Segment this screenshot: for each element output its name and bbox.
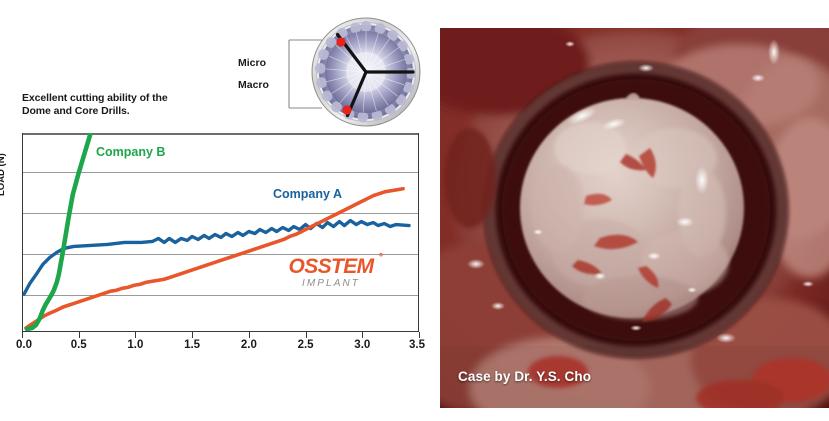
xtick-mark [22,332,23,338]
clinical-photo-image [440,28,829,408]
xtick-mark [419,332,420,338]
xtick-label-5: 2.5 [298,339,314,351]
micro-marker-dot [336,37,345,46]
xtick-mark [362,332,363,338]
osstem-logo: OSSTEM ° IMPLANT [271,255,391,289]
drill-label-micro: Micro [238,52,290,74]
drill-circle-svg [310,16,422,128]
xtick-label-0: 0.0 [16,339,32,351]
clinical-photo: Case by Dr. Y.S. Cho [440,28,829,408]
chart-caption: Excellent cutting ability of the Dome an… [22,92,222,118]
xtick-mark [306,332,307,338]
xtick-label-4: 2.0 [241,339,257,351]
drill-label-macro: Macro [238,74,290,96]
series-lines [23,133,418,331]
xtick-label-2: 1.0 [127,339,143,351]
chart-caption-line-1: Excellent cutting ability of the [22,92,222,105]
xtick-mark [135,332,136,338]
osstem-degree-mark: ° [379,252,383,264]
photo-caption: Case by Dr. Y.S. Cho [458,369,591,384]
drill-diagram-labels: Micro Macro [238,52,290,96]
xtick-label-6: 3.0 [354,339,370,351]
xtick-mark [249,332,250,338]
osstem-wordmark-text: OSSTEM [288,255,373,278]
chart-panel: Excellent cutting ability of the Dome an… [0,0,430,421]
xtick-mark [79,332,80,338]
xtick-label-1: 0.5 [71,339,87,351]
y-axis-title: LOAD (N) [0,153,7,196]
chart-caption-line-2: Dome and Core Drills. [22,105,222,118]
xtick-mark [192,332,193,338]
plot-area: OSSTEM ° IMPLANT [22,133,419,332]
osstem-wordmark: OSSTEM ° [288,255,373,279]
drill-circle [310,16,422,128]
macro-marker-dot [342,105,351,114]
series-label-company-a: Company A [273,187,342,201]
xtick-label-7: 3.5 [409,339,425,351]
series-label-company-b: Company B [96,145,165,159]
drill-cross-section-diagram: Micro Macro [238,14,418,132]
osstem-subtitle: IMPLANT [271,278,391,289]
x-axis-ticks: 0.0 0.5 1.0 1.5 2.0 2.5 3.0 3.5 [22,332,419,356]
xtick-label-3: 1.5 [184,339,200,351]
